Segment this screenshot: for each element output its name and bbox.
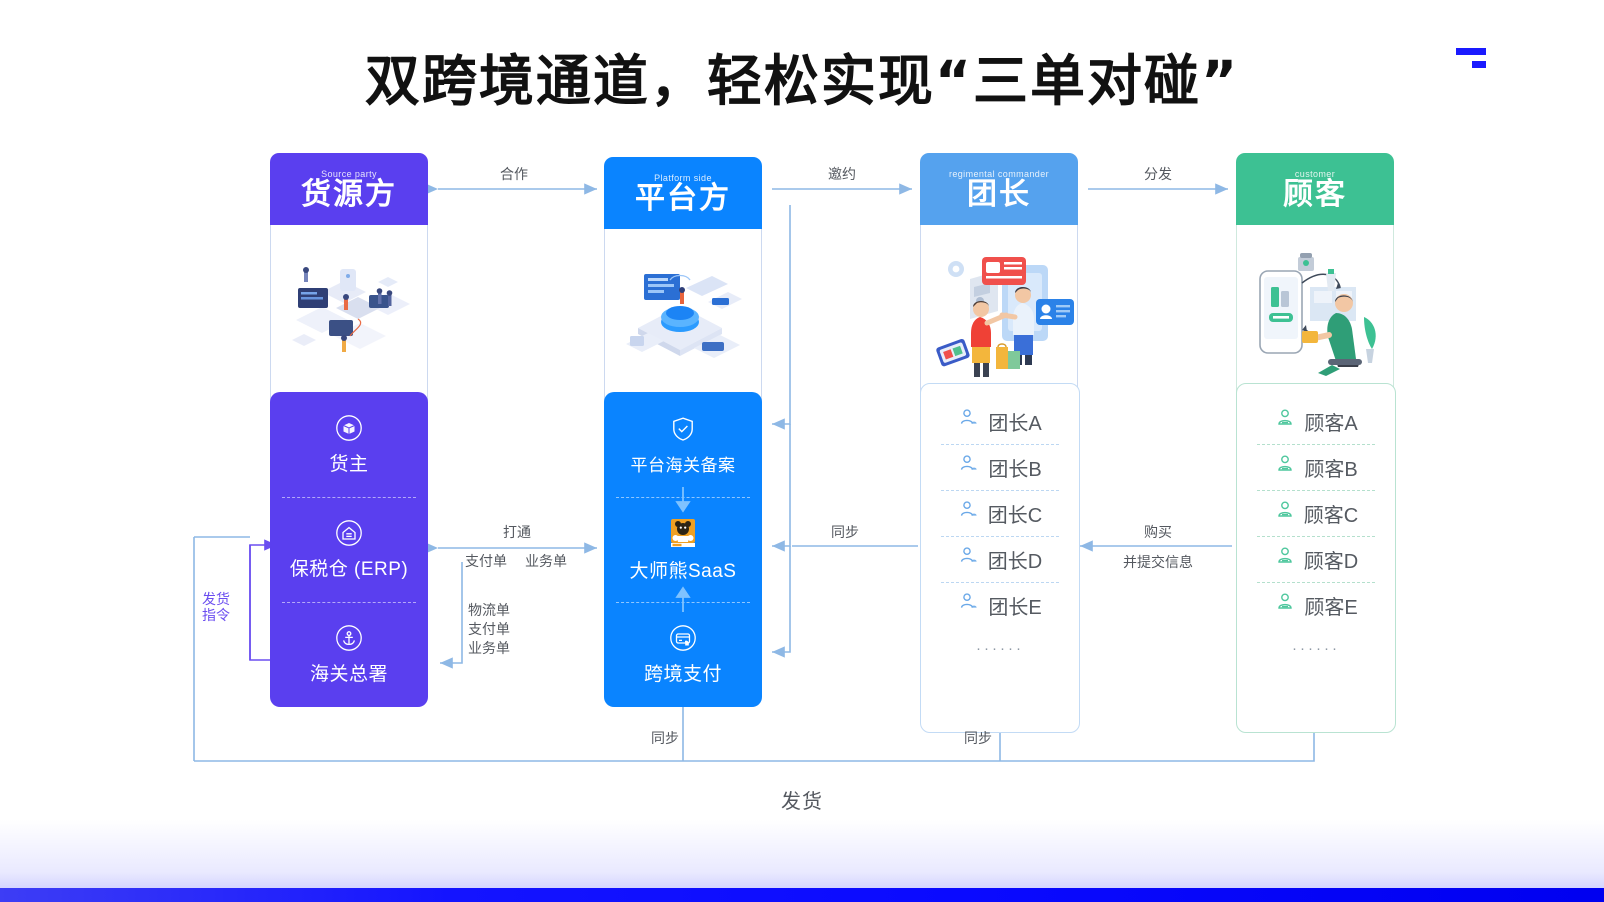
flow-label-invite: 邀约 (828, 165, 856, 184)
user-group-icon (958, 591, 980, 619)
bottom-glow (0, 820, 1604, 890)
anchor-customs-icon (335, 624, 363, 652)
user-group-icon (958, 499, 980, 527)
list-item-label: 顾客C (1304, 499, 1358, 528)
list-item-label: 团长C (988, 499, 1042, 528)
column-source[interactable]: Source party 货源方 (270, 153, 428, 401)
list-item[interactable]: 团长C (921, 490, 1079, 536)
column-subtitle-en: Source party (321, 169, 377, 179)
panel-row-source-0[interactable]: 货主 (270, 392, 428, 497)
flow-label-docs-3: 业务单 (468, 639, 510, 658)
column-subtitle-en: regimental commander (949, 169, 1049, 179)
panel-row-platform-1[interactable]: 大师熊SaaS (604, 497, 762, 602)
panel-source-rows[interactable]: 货主 保税仓 (ERP) (270, 392, 428, 707)
flow-label-docs-1: 物流单 (468, 601, 510, 620)
user-icon (1274, 453, 1296, 481)
flow-label-sync-mid: 同步 (831, 523, 859, 542)
user-group-icon (958, 453, 980, 481)
bear-mascot-icon (667, 517, 699, 549)
list-item[interactable]: 团长E (921, 582, 1079, 628)
flow-label-connect-sub-right: 业务单 (525, 552, 567, 571)
slide-root: 双跨境通道，轻松实现“三单对碰” (0, 0, 1604, 902)
panel-row-label: 货主 (329, 449, 368, 476)
column-customer[interactable]: customer 顾客 (1236, 153, 1394, 401)
panel-row-label: 保税仓 (ERP) (290, 554, 409, 581)
list-item-label: 顾客A (1304, 407, 1357, 436)
list-item-label: 团长E (988, 591, 1041, 620)
flow-label-purchase-1: 购买 (1144, 523, 1172, 542)
user-icon (1274, 407, 1296, 435)
flow-label-connect: 打通 (503, 523, 531, 542)
flow-label-purchase-2: 并提交信息 (1123, 553, 1193, 572)
box-package-icon (335, 414, 363, 442)
footer-caption: 发货 (0, 785, 1604, 814)
list-item[interactable]: 团长B (921, 444, 1079, 490)
panel-row-label: 海关总署 (310, 659, 388, 686)
column-illustration-customer (1236, 225, 1394, 401)
panel-row-platform-2[interactable]: 跨境支付 (604, 602, 762, 707)
isometric-server-illustration (608, 252, 758, 382)
user-icon (1274, 545, 1296, 573)
payment-card-icon (669, 624, 697, 652)
list-panel-leader[interactable]: 团长A 团长B (920, 383, 1080, 733)
user-icon (1274, 591, 1296, 619)
user-icon (1274, 499, 1296, 527)
column-title-cn: 平台方 (635, 184, 731, 214)
panel-row-source-1[interactable]: 保税仓 (ERP) (270, 497, 428, 602)
list-item-label: 团长D (988, 545, 1042, 574)
flow-label-cooperate: 合作 (500, 165, 528, 184)
flow-label-ship-instruction-2: 指令 (202, 606, 230, 625)
column-illustration-source (270, 225, 428, 401)
warehouse-icon (335, 519, 363, 547)
list-panel-customer[interactable]: 顾客A 顾客B (1236, 383, 1396, 733)
mobile-shopping-illustration (1240, 243, 1390, 383)
panel-row-source-2[interactable]: 海关总署 (270, 602, 428, 707)
shield-check-icon (668, 414, 698, 444)
flow-label-connect-sub-left: 支付单 (465, 552, 507, 571)
column-leader[interactable]: regimental commander 团长 (920, 153, 1078, 401)
list-item[interactable]: 顾客E (1237, 582, 1395, 628)
column-header-source: Source party 货源方 (270, 153, 428, 225)
bear-mascot-glyph (667, 517, 699, 549)
panel-row-label: 平台海关备案 (631, 451, 736, 476)
people-chat-illustration (924, 243, 1074, 383)
panel-row-label: 跨境支付 (644, 659, 722, 686)
list-item[interactable]: 顾客D (1237, 536, 1395, 582)
column-header-leader: regimental commander 团长 (920, 153, 1078, 225)
column-subtitle-en: customer (1295, 169, 1335, 179)
column-title-cn: 顾客 (1283, 180, 1347, 210)
column-header-customer: customer 顾客 (1236, 153, 1394, 225)
column-title-cn: 团长 (967, 180, 1031, 210)
flow-label-sync-bottom-right: 同步 (964, 729, 992, 748)
isometric-workspace-illustration (274, 248, 424, 378)
bottom-accent-bar (0, 888, 1604, 902)
list-item-label: 团长B (988, 453, 1041, 482)
panel-row-platform-0[interactable]: 平台海关备案 (604, 392, 762, 497)
list-item[interactable]: 顾客A (1237, 398, 1395, 444)
flow-label-distribute: 分发 (1144, 165, 1172, 184)
list-item-label: 顾客D (1304, 545, 1358, 574)
column-platform[interactable]: Platform side 平台方 (604, 157, 762, 405)
flow-label-docs-2: 支付单 (468, 620, 510, 639)
list-more-indicator: ······ (1237, 640, 1395, 657)
column-illustration-platform (604, 229, 762, 405)
list-item-label: 顾客B (1304, 453, 1357, 482)
list-item[interactable]: 顾客C (1237, 490, 1395, 536)
list-item[interactable]: 团长A (921, 398, 1079, 444)
panel-platform-rows[interactable]: 平台海关备案 (604, 392, 762, 707)
column-header-platform: Platform side 平台方 (604, 157, 762, 229)
user-group-icon (958, 407, 980, 435)
panel-row-label: 大师熊SaaS (630, 556, 737, 583)
column-subtitle-en: Platform side (654, 173, 712, 183)
list-item[interactable]: 顾客B (1237, 444, 1395, 490)
user-group-icon (958, 545, 980, 573)
list-item-label: 团长A (988, 407, 1041, 436)
flow-label-sync-bottom-left: 同步 (651, 729, 679, 748)
column-illustration-leader (920, 225, 1078, 401)
list-item-label: 顾客E (1304, 591, 1357, 620)
diagram-canvas: Source party 货源方 (0, 0, 1604, 902)
list-more-indicator: ······ (921, 640, 1079, 657)
column-title-cn: 货源方 (301, 180, 397, 210)
list-item[interactable]: 团长D (921, 536, 1079, 582)
